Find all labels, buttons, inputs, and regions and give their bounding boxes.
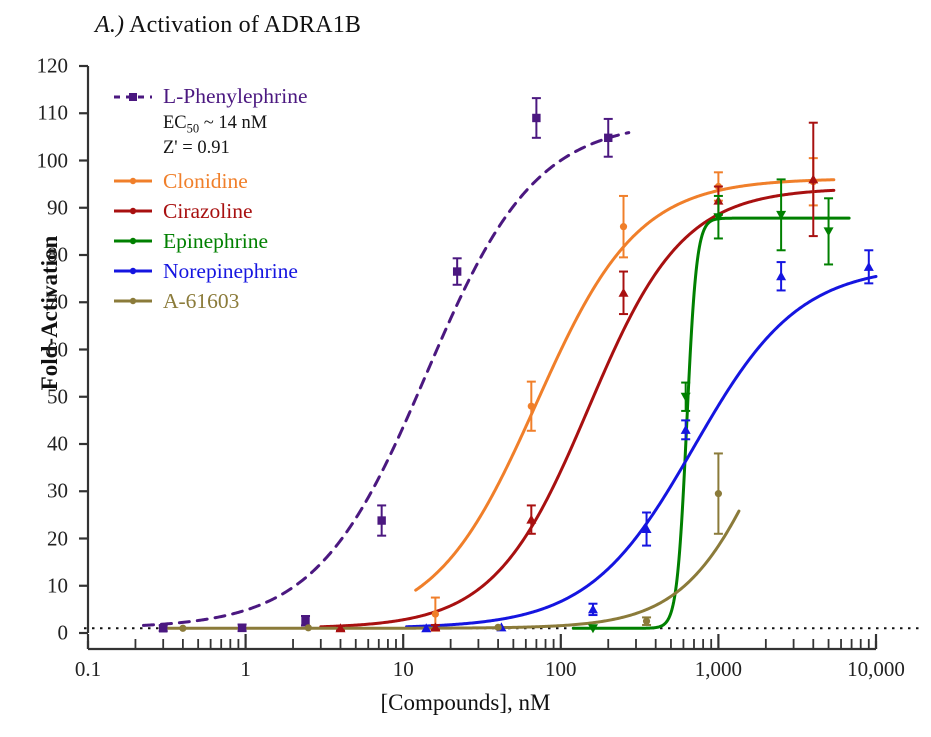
marker-circle <box>432 611 439 618</box>
ec50-tail: ~ 14 nM <box>199 113 267 133</box>
y-tick-label: 20 <box>12 526 68 551</box>
marker-circle <box>179 625 186 632</box>
x-tick-label: 0.1 <box>28 657 148 682</box>
y-tick-label: 120 <box>12 54 68 79</box>
legend-marker <box>130 178 136 184</box>
marker-circle <box>494 624 501 631</box>
datapoint-l-phenylephrine <box>301 616 310 625</box>
legend-label: Epinephrine <box>163 231 268 253</box>
datapoint-a-61603 <box>714 453 723 533</box>
y-tick-label: 0 <box>12 621 68 646</box>
x-tick-label: 1,000 <box>658 657 778 682</box>
legend-marker <box>130 208 136 214</box>
marker-square <box>604 134 612 142</box>
datapoint-cirazoline <box>619 272 629 315</box>
curve-norepinephrine <box>407 276 876 626</box>
legend-label: Norepinephrine <box>163 261 298 283</box>
chart-legend: L-PhenylephrineEC50 ~ 14 nMZ' = 0.91Clon… <box>112 82 382 316</box>
datapoint-clonidine <box>619 196 628 257</box>
legend-swatch-icon <box>112 203 154 219</box>
marker-triangle <box>681 425 691 434</box>
marker-triangle <box>864 262 874 271</box>
y-tick-label: 100 <box>12 148 68 173</box>
marker-triangle-down <box>824 227 834 236</box>
curve-clonidine <box>416 180 834 590</box>
legend-swatch-icon <box>112 233 154 249</box>
datapoint-l-phenylephrine <box>604 119 613 157</box>
ec50-prefix: EC <box>163 113 187 133</box>
ec50-subscript: 50 <box>187 122 200 136</box>
marker-square <box>532 114 540 122</box>
legend-swatch-icon <box>112 263 154 279</box>
datapoint-a-61603 <box>494 624 501 631</box>
zprime-annotation: Z' = 0.91 <box>163 137 382 161</box>
datapoint-l-phenylephrine <box>453 258 462 284</box>
legend-item-a-61603[interactable]: A-61603 <box>112 286 382 316</box>
legend-label: A-61603 <box>163 291 239 313</box>
legend-swatch-icon <box>112 89 154 105</box>
y-tick-label: 40 <box>12 432 68 457</box>
legend-swatch-icon <box>112 293 154 309</box>
legend-item-clonidine[interactable]: Clonidine <box>112 166 382 196</box>
curve-cirazoline <box>321 190 834 626</box>
marker-circle <box>620 223 627 230</box>
marker-square <box>453 267 461 275</box>
y-tick-label: 60 <box>12 337 68 362</box>
marker-circle <box>715 490 722 497</box>
marker-triangle <box>588 604 598 613</box>
legend-label: Cirazoline <box>163 201 253 223</box>
datapoint-l-phenylephrine <box>238 624 247 632</box>
legend-item-cirazoline[interactable]: Cirazoline <box>112 196 382 226</box>
chart-figure: A.) Activation of ADRA1B Fold-Activation… <box>0 0 931 737</box>
y-tick-label: 10 <box>12 573 68 598</box>
legend-item-epinephrine[interactable]: Epinephrine <box>112 226 382 256</box>
datapoint-norepinephrine <box>588 604 598 615</box>
marker-square <box>238 624 246 632</box>
datapoint-epinephrine <box>824 198 834 264</box>
marker-circle <box>528 403 535 410</box>
datapoint-epinephrine <box>776 179 786 250</box>
y-tick-label: 30 <box>12 479 68 504</box>
x-tick-label: 1 <box>186 657 306 682</box>
marker-square <box>159 624 167 632</box>
legend-marker <box>130 268 136 274</box>
legend-item-norepinephrine[interactable]: Norepinephrine <box>112 256 382 286</box>
curve-a-61603 <box>163 511 739 628</box>
legend-label: L-Phenylephrine <box>163 86 308 108</box>
ec50-annotation: EC50 ~ 14 nM <box>163 112 382 137</box>
legend-label: Clonidine <box>163 171 248 193</box>
x-tick-label: 100 <box>501 657 621 682</box>
legend-marker <box>129 93 137 101</box>
datapoint-l-phenylephrine <box>532 98 541 138</box>
legend-marker <box>130 238 136 244</box>
marker-triangle <box>776 271 786 280</box>
legend-marker <box>130 298 136 304</box>
curve-epinephrine <box>573 218 849 628</box>
legend-item-l-phenylephrine[interactable]: L-Phenylephrine <box>112 82 382 112</box>
marker-circle <box>643 618 650 625</box>
datapoint-a-61603 <box>642 617 651 625</box>
y-tick-label: 50 <box>12 384 68 409</box>
datapoint-a-61603 <box>179 625 186 632</box>
y-tick-label: 80 <box>12 243 68 268</box>
datapoint-l-phenylephrine <box>159 624 168 632</box>
marker-square <box>301 617 309 625</box>
x-tick-label: 10 <box>343 657 463 682</box>
marker-triangle <box>619 288 629 297</box>
marker-square <box>377 516 385 524</box>
x-tick-label: 10,000 <box>816 657 931 682</box>
datapoint-norepinephrine <box>681 420 691 439</box>
y-tick-label: 90 <box>12 195 68 220</box>
y-tick-label: 70 <box>12 290 68 315</box>
marker-circle <box>305 624 312 631</box>
datapoint-l-phenylephrine <box>377 505 386 535</box>
datapoint-norepinephrine <box>776 262 786 290</box>
y-tick-label: 110 <box>12 101 68 126</box>
datapoint-a-61603 <box>305 624 312 631</box>
legend-swatch-icon <box>112 173 154 189</box>
